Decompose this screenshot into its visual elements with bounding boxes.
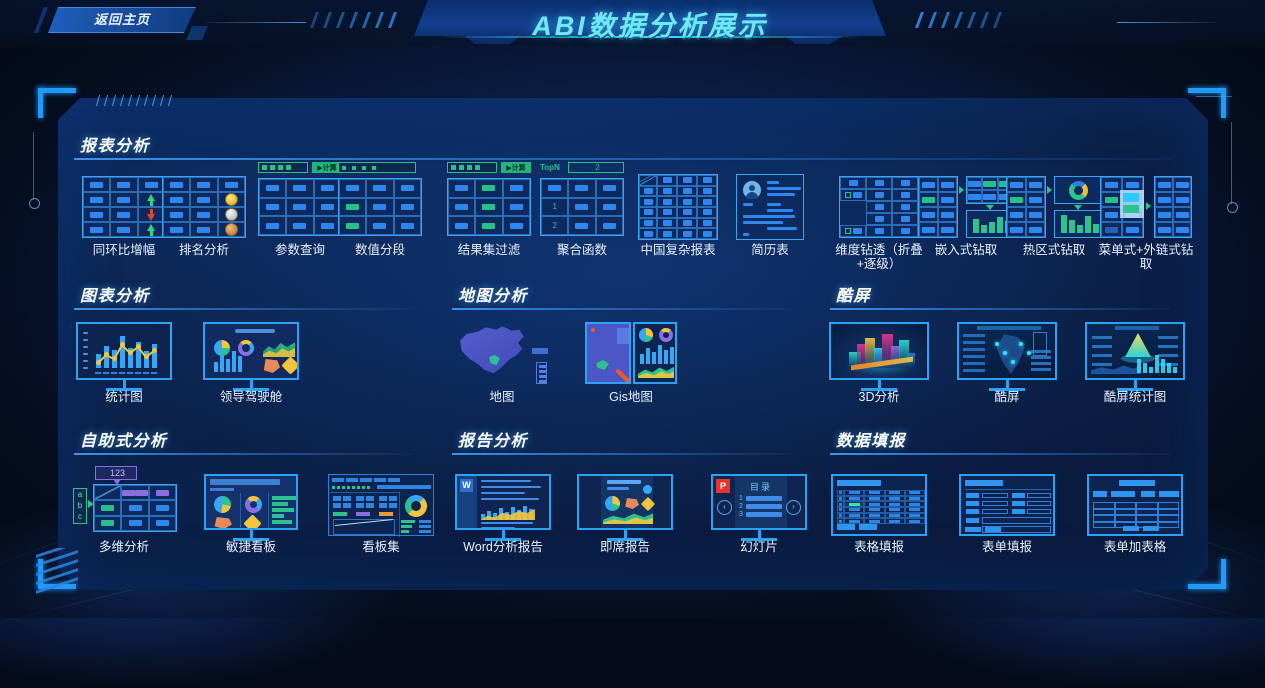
section-rule-cool-screen <box>830 308 1170 310</box>
section-title-data-entry: 数据填报 <box>836 427 906 451</box>
item-label: 领导驾驶舱 <box>220 390 283 404</box>
decor-wire <box>1196 96 1232 97</box>
page-title: ABI数据分析展示 <box>400 4 900 43</box>
item-label: 酷屏统计图 <box>1104 390 1167 404</box>
donut-chart-icon <box>405 495 427 517</box>
item-label: Word分析报告 <box>463 540 543 554</box>
header-divider-line-right <box>1117 22 1217 23</box>
word-badge: W <box>460 479 473 492</box>
app-header: 返回主页 ABI数据分析展示 <box>0 0 1265 46</box>
section-rule-chart-analysis <box>74 308 414 310</box>
text-field-badge[interactable]: abc <box>73 488 87 524</box>
item-label: 即席报告 <box>600 540 650 554</box>
section-rule-report-doc <box>452 453 792 455</box>
item-label: 热区式钻取 <box>1023 243 1086 257</box>
decor-node <box>1227 202 1238 213</box>
section-rule-data-entry <box>830 453 1170 455</box>
diamond-shape-icon <box>281 356 299 374</box>
item-label: 维度钻透（折叠+逐级） <box>831 243 927 271</box>
topn-label: TopN <box>540 163 560 172</box>
item-label: 幻灯片 <box>740 540 778 554</box>
slide-toc-title: 目录 <box>735 480 787 493</box>
numeric-field-badge[interactable]: 123 <box>95 466 137 480</box>
item-label: 3D分析 <box>859 390 900 404</box>
prev-slide-button[interactable]: ‹ <box>717 500 732 515</box>
avatar <box>743 181 761 199</box>
item-label: 聚合函数 <box>557 243 607 257</box>
item-label: 同环比增幅 <box>93 243 156 257</box>
donut-chart-icon <box>1069 181 1088 200</box>
section-title-map-analysis: 地图分析 <box>458 282 528 306</box>
item-label: 表格填报 <box>854 540 904 554</box>
param-toolbar <box>258 162 308 173</box>
item-label: 表单加表格 <box>1104 540 1167 554</box>
item-label: 统计图 <box>105 390 143 404</box>
context-menu-icon[interactable] <box>1120 190 1144 218</box>
side-hatch-decor <box>36 548 78 594</box>
decor-node <box>29 198 40 209</box>
section-rule-report-analysis <box>74 158 1174 160</box>
item-label: 菜单式+外链式钻取 <box>1098 243 1194 271</box>
corner-bracket-top-right <box>1190 88 1236 134</box>
decor-wire <box>33 132 34 200</box>
map-legend <box>536 362 547 384</box>
polygon-shape-icon <box>262 359 280 373</box>
back-home-button[interactable]: 返回主页 <box>48 7 196 33</box>
diamond-shape-icon <box>243 514 261 530</box>
item-label: 表单填报 <box>982 540 1032 554</box>
item-label: 数值分段 <box>355 243 405 257</box>
item-label: 地图 <box>489 390 514 404</box>
slide-number: 3 <box>739 511 743 518</box>
section-title-report-doc: 报告分析 <box>458 427 528 451</box>
item-label: 参数查询 <box>275 243 325 257</box>
item-label: 酷屏 <box>994 390 1019 404</box>
pie-chart-icon <box>605 496 620 511</box>
board-collection-panel <box>328 474 434 536</box>
china-map-shape <box>454 324 530 380</box>
item-label: 中国复杂报表 <box>640 243 715 257</box>
section-title-self-service: 自助式分析 <box>80 427 168 451</box>
topn-value-field[interactable]: 2 <box>568 162 624 173</box>
pie-chart-icon <box>214 496 231 513</box>
item-label: 看板集 <box>362 540 400 554</box>
calc-button[interactable]: ▶计算 <box>501 162 531 173</box>
section-rule-map-analysis <box>452 308 792 310</box>
item-label: 嵌入式钻取 <box>935 243 998 257</box>
segment-toolbar <box>338 162 416 173</box>
item-label: 多维分析 <box>99 540 149 554</box>
item-label: 结果集过滤 <box>458 243 521 257</box>
gis-chart-panel <box>633 322 677 384</box>
corner-bracket-bottom-right <box>1190 548 1236 594</box>
back-home-label: 返回主页 <box>49 8 195 32</box>
filter-toolbar <box>447 162 497 173</box>
section-title-chart-analysis: 图表分析 <box>80 282 150 306</box>
section-title-report-analysis: 报表分析 <box>80 132 150 156</box>
panel-hatch-decor <box>96 95 174 106</box>
item-label: 敏捷看板 <box>226 540 276 554</box>
donut-chart-icon <box>245 496 262 513</box>
header-divider-line <box>206 22 306 23</box>
decor-wire <box>1231 122 1232 204</box>
item-label: 简历表 <box>751 243 789 257</box>
donut-chart-icon <box>238 340 254 356</box>
slide-number: 2 <box>739 503 743 510</box>
slide-number: 1 <box>739 495 743 502</box>
item-label: 排名分析 <box>179 243 229 257</box>
section-title-cool-screen: 酷屏 <box>836 282 871 306</box>
section-rule-self-service <box>74 453 414 455</box>
ppt-badge: P <box>716 479 730 493</box>
item-label: Gis地图 <box>609 390 653 404</box>
gis-map-panel <box>585 322 631 384</box>
polygon-shape-icon <box>213 517 232 529</box>
corner-bracket-top-left <box>30 88 76 134</box>
next-slide-button[interactable]: › <box>786 500 801 515</box>
